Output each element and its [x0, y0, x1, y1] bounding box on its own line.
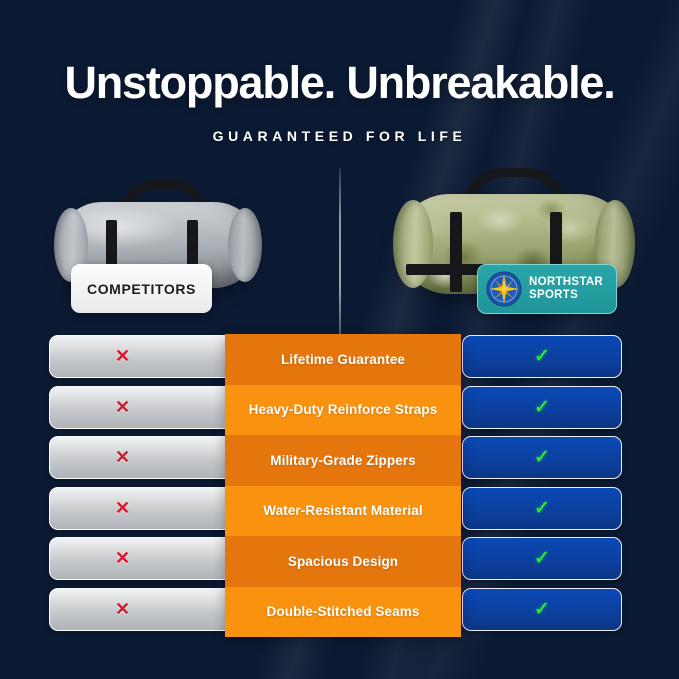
northstar-row: ✓	[462, 487, 622, 530]
check-icon: ✓	[534, 598, 550, 621]
feature-label: Lifetime Guarantee	[225, 334, 461, 385]
check-icon: ✓	[534, 497, 550, 520]
feature-label: Double-Stitched Seams	[225, 587, 461, 638]
check-icon: ✓	[534, 446, 550, 469]
feature-label: Military-Grade Zippers	[225, 435, 461, 486]
feature-label: Water-Resistant Material	[225, 486, 461, 537]
northstar-row: ✓	[462, 588, 622, 631]
product-comparison-banner: Unstoppable. Unbreakable. GUARANTEED FOR…	[0, 0, 679, 679]
northstar-row: ✓	[462, 537, 622, 580]
feature-name-column: Lifetime GuaranteeHeavy-Duty Reinforce S…	[225, 334, 461, 637]
check-icon: ✓	[534, 396, 550, 419]
feature-label: Spacious Design	[225, 536, 461, 587]
northstar-row: ✓	[462, 335, 622, 378]
feature-label: Heavy-Duty Reinforce Straps	[225, 385, 461, 436]
northstar-row: ✓	[462, 386, 622, 429]
check-icon: ✓	[534, 547, 550, 570]
northstar-row: ✓	[462, 436, 622, 479]
check-icon: ✓	[534, 345, 550, 368]
